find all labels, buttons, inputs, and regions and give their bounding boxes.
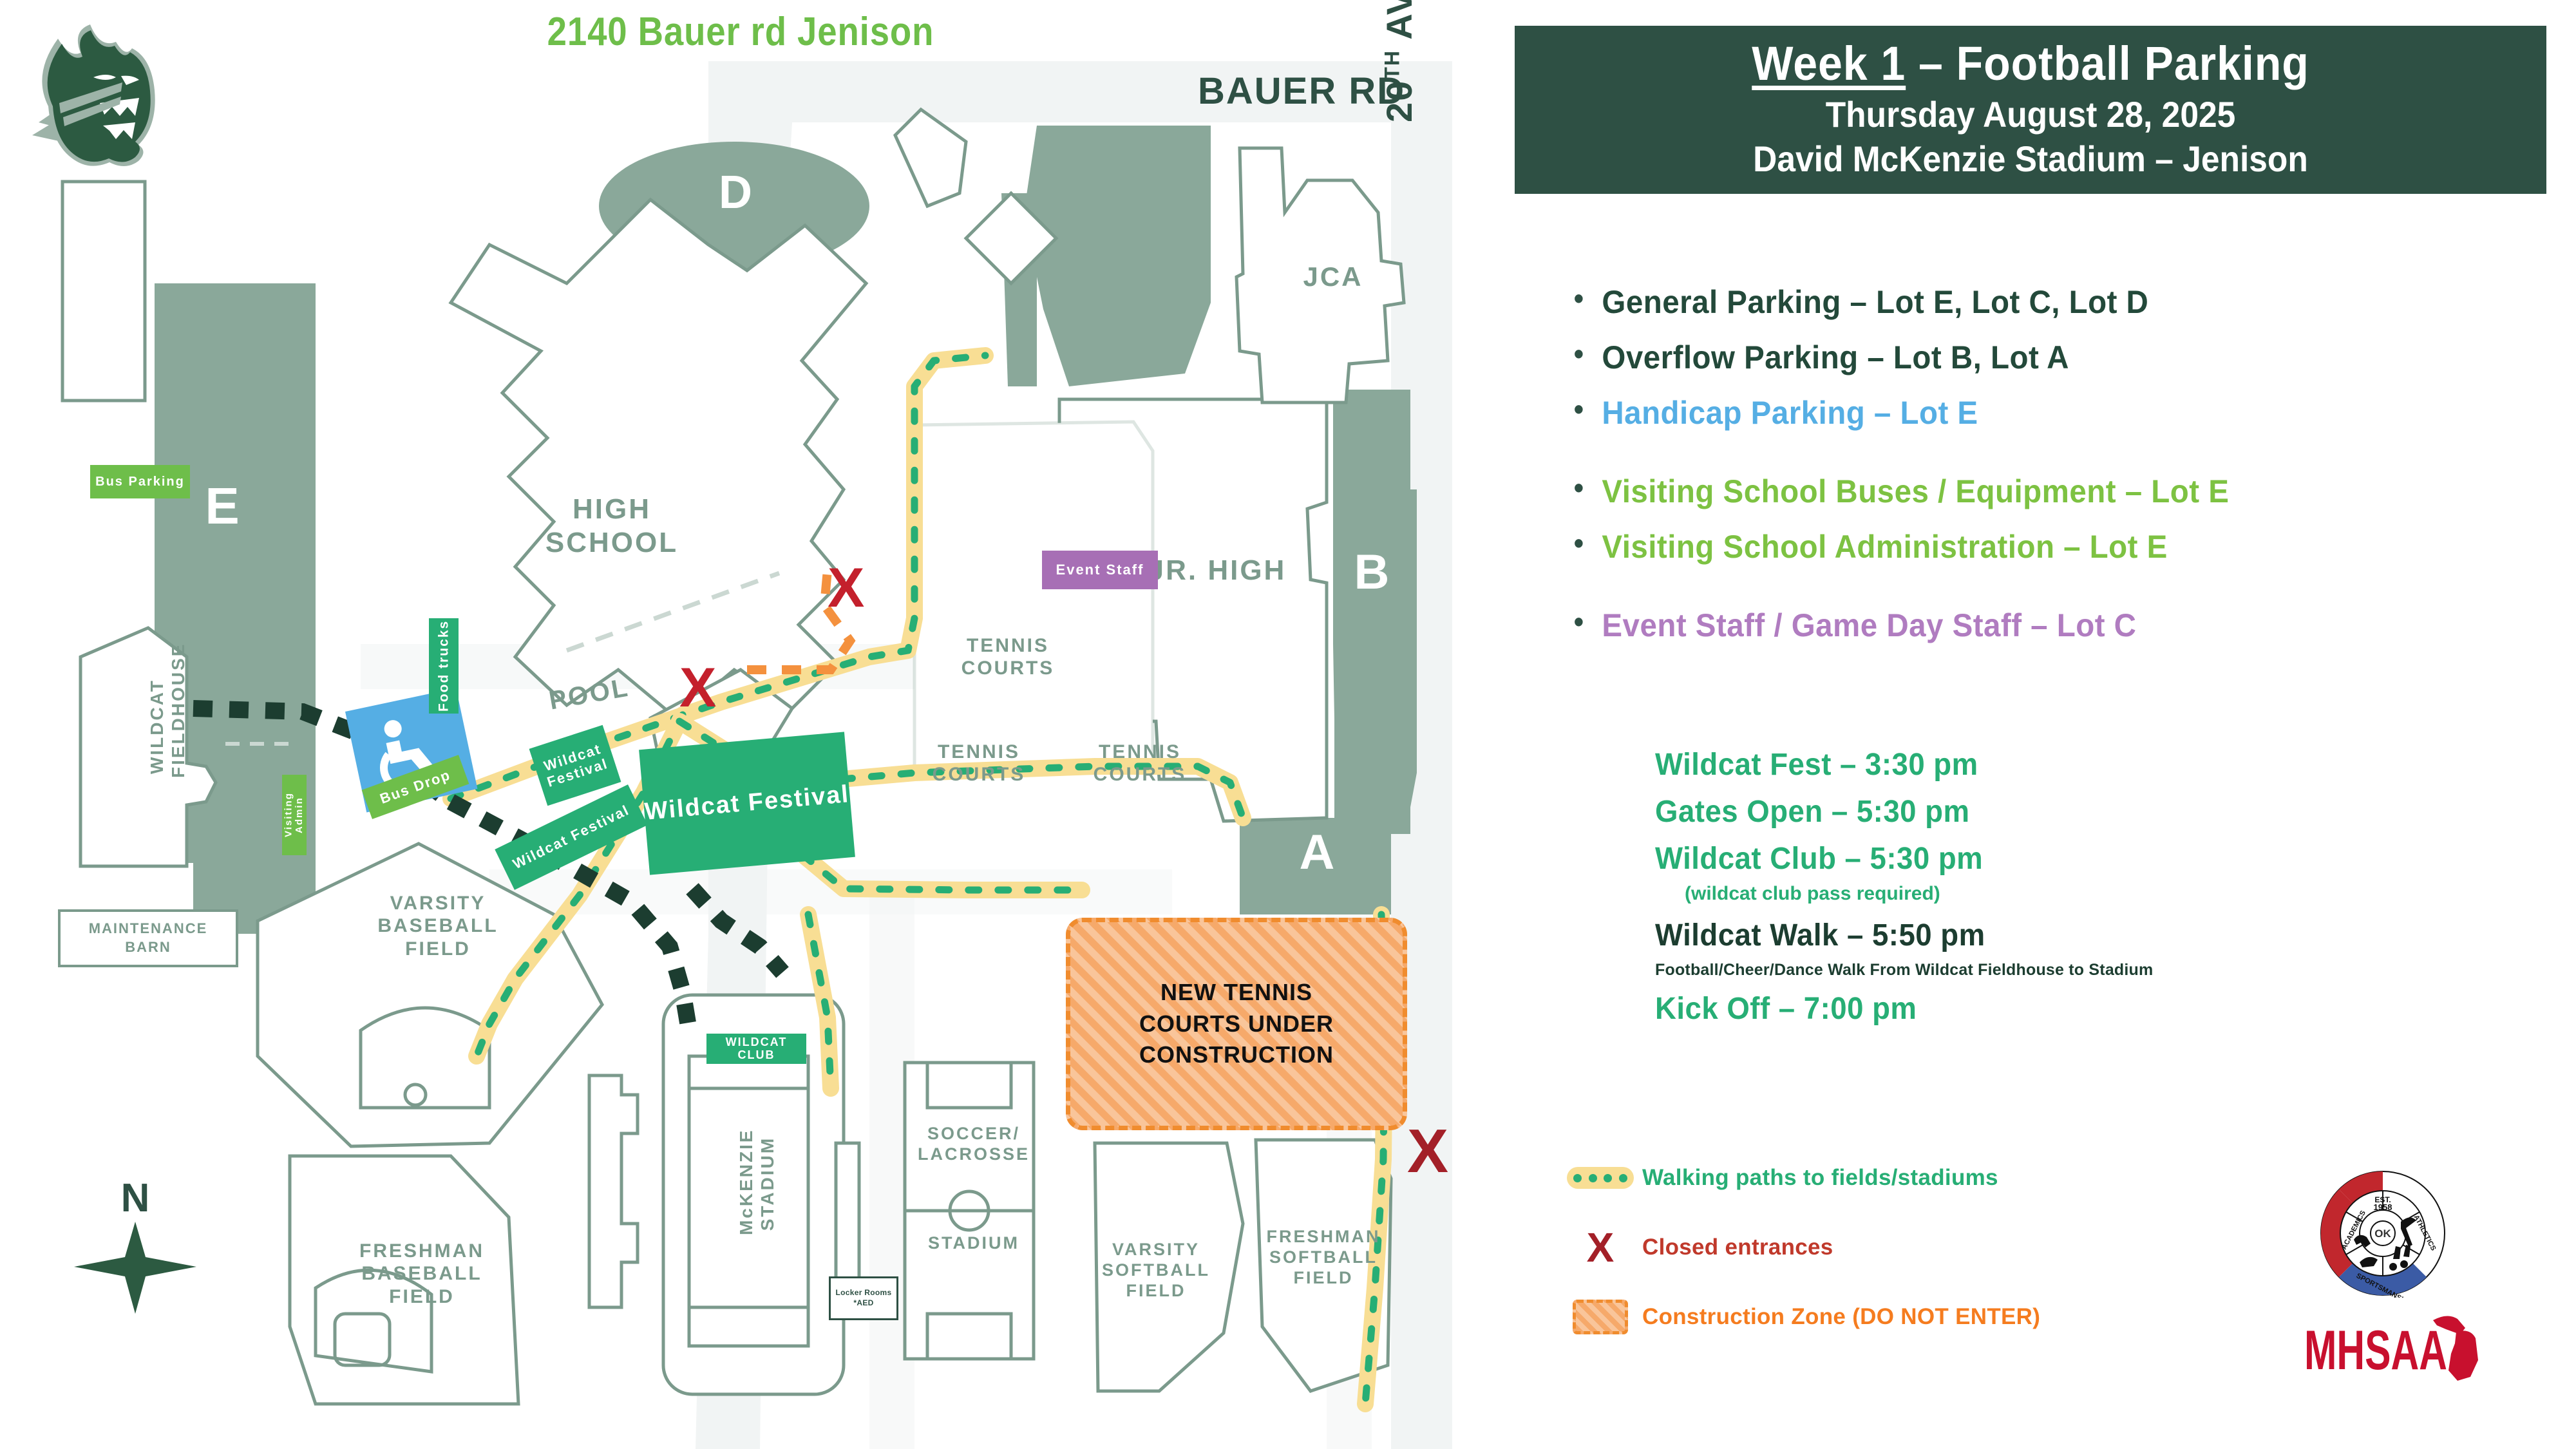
schedule-wildcat-club: Wildcat Club – 5:30 pm [1655, 841, 2481, 876]
bleachers-outline [589, 1075, 638, 1307]
lot-letter-A: A [1285, 824, 1349, 880]
closed-entrance-x-icon: X [1558, 1227, 1642, 1268]
label-freshman-softball: FRESHMANSOFTBALLFIELD [1253, 1227, 1394, 1289]
closed-entrance-x-1: X [679, 660, 716, 715]
label-varsity-softball: VARSITYSOFTBALLFIELD [1085, 1240, 1227, 1302]
mhsaa-logo: MHSAA [2304, 1314, 2485, 1385]
legend-label-walking-paths: Walking paths to fields/stadiums [1642, 1165, 1998, 1191]
schedule-wildcat-fest: Wildcat Fest – 3:30 pm [1655, 747, 2481, 782]
bullet-visiting-buses: Visiting School Buses / Equipment – Lot … [1570, 473, 2500, 510]
tag-event-staff: Event Staff [1042, 551, 1158, 589]
page-title-week: Week 1 [1752, 37, 1906, 90]
parking-assignment-list: General Parking – Lot E, Lot C, Lot D Ov… [1570, 283, 2549, 662]
event-schedule: Wildcat Fest – 3:30 pm Gates Open – 5:30… [1655, 747, 2524, 1038]
legend-row-closed-entrances: X Closed entrances [1558, 1213, 2331, 1282]
construction-zone-icon [1558, 1300, 1642, 1334]
campus-map: 2140 Bauer rd Jenison BAUER RD 20TH AVE … [0, 0, 1494, 1449]
legend-row-walking-paths: Walking paths to fields/stadiums [1558, 1143, 2331, 1213]
lot-letter-D: D [703, 166, 768, 219]
label-freshman-baseball: FRESHMANBASEBALLFIELD [325, 1240, 518, 1308]
label-locker-rooms: Locker Rooms [836, 1288, 892, 1298]
label-tennis-courts-2: TENNISCOURTS [914, 741, 1043, 786]
ave-number: 20 [1379, 80, 1419, 122]
tag-wildcat-festival-3: Wildcat Festival [639, 732, 855, 875]
schedule-gates-open: Gates Open – 5:30 pm [1655, 794, 2481, 829]
page-title: Week 1 – Football Parking [1562, 36, 2499, 91]
bullet-handicap-parking: Handicap Parking – Lot E [1570, 394, 2500, 431]
page-title-rest: – Football Parking [1906, 37, 2309, 90]
schedule-wildcat-club-note: (wildcat club pass required) [1685, 883, 2524, 905]
ave-suffix: TH [1380, 50, 1403, 80]
walking-path-icon [1558, 1167, 1642, 1189]
compass-north-label: N [71, 1179, 200, 1218]
wildcat-logo [6, 10, 296, 190]
label-soccer-lacrosse: SOCCER/LACROSSE [909, 1124, 1038, 1165]
ok-conference-logo: OK EST. 1958 ACADEMICS ATHLETICS SPORTSM… [2318, 1169, 2447, 1298]
label-aed: *AED [853, 1298, 873, 1309]
schedule-wildcat-walk: Wildcat Walk – 5:50 pm [1655, 918, 2481, 953]
svg-text:OK: OK [2374, 1227, 2391, 1240]
compass-rose: N [71, 1179, 200, 1318]
bullet-overflow-parking: Overflow Parking – Lot B, Lot A [1570, 339, 2500, 376]
map-legend: Walking paths to fields/stadiums X Close… [1558, 1143, 2331, 1352]
lot-B-core [1334, 390, 1410, 834]
parking-map-page: 2140 Bauer rd Jenison BAUER RD 20TH AVE … [0, 0, 2576, 1449]
street-label-20th-ave: 20TH AVE [1378, 0, 1420, 122]
ave-word: AVE [1379, 0, 1419, 40]
lot-C-shape [1024, 126, 1211, 386]
tag-bus-parking: Bus Parking [90, 465, 190, 498]
mhsaa-wordmark: MHSAA [2304, 1320, 2447, 1381]
high-school-outline [451, 200, 866, 718]
small-building-ul [62, 182, 145, 401]
tag-food-trucks: Food trucks [429, 618, 459, 714]
label-high-school: HIGHSCHOOL [515, 493, 708, 560]
bullet-event-staff: Event Staff / Game Day Staff – Lot C [1570, 607, 2500, 644]
lot-letter-B: B [1340, 544, 1404, 600]
schedule-kick-off: Kick Off – 7:00 pm [1655, 991, 2481, 1027]
construction-zone-map-block: NEW TENNISCOURTS UNDERCONSTRUCTION [1066, 918, 1407, 1130]
label-tennis-courts-1: TENNISCOURTS [937, 634, 1079, 680]
legend-label-closed-entrances: Closed entrances [1642, 1235, 1833, 1260]
closed-entrance-x-3: X [1407, 1121, 1448, 1182]
construction-zone-label: NEW TENNISCOURTS UNDERCONSTRUCTION [1139, 977, 1334, 1071]
tag-wildcat-club: WILDCAT CLUB [706, 1034, 806, 1064]
event-venue: David McKenzie Stadium – Jenison [1562, 138, 2499, 180]
svg-text:1958: 1958 [2374, 1202, 2392, 1212]
schedule-wildcat-walk-note: Football/Cheer/Dance Walk From Wildcat F… [1655, 961, 2524, 980]
locker-rooms-aed-box: Locker Rooms *AED [829, 1276, 898, 1320]
tag-visiting-admin: Visiting Admin [282, 775, 307, 855]
header-block: Week 1 – Football Parking Thursday Augus… [1515, 26, 2546, 194]
label-soccer-stadium: STADIUM [909, 1233, 1038, 1254]
bullet-general-parking: General Parking – Lot E, Lot C, Lot D [1570, 283, 2500, 321]
legend-row-construction-zone: Construction Zone (DO NOT ENTER) [1558, 1282, 2331, 1352]
maintenance-barn-box: MAINTENANCEBARN [58, 909, 238, 967]
compass-star-icon [71, 1218, 200, 1315]
lot-letter-E: E [187, 477, 258, 536]
bullet-visiting-admin: Visiting School Administration – Lot E [1570, 528, 2500, 565]
label-maintenance-barn: MAINTENANCEBARN [89, 920, 208, 956]
label-wildcat-fieldhouse: WILDCATFIELDHOUSE [146, 675, 189, 778]
legend-label-construction-zone: Construction Zone (DO NOT ENTER) [1642, 1304, 2040, 1330]
label-mckenzie-stadium: McKENZIESTADIUM [735, 1132, 778, 1235]
label-varsity-baseball: VARSITYBASEBALLFIELD [348, 892, 528, 960]
map-address-title: 2140 Bauer rd Jenison [486, 9, 996, 55]
street-label-bauer-rd: BAUER RD [1198, 70, 1405, 113]
closed-entrance-x-2: X [828, 560, 864, 616]
label-jca: JCA [1275, 261, 1391, 293]
tennis-court-block [914, 422, 1153, 773]
label-tennis-courts-3: TENNISCOURTS [1075, 741, 1204, 786]
event-date: Thursday August 28, 2025 [1562, 93, 2499, 135]
